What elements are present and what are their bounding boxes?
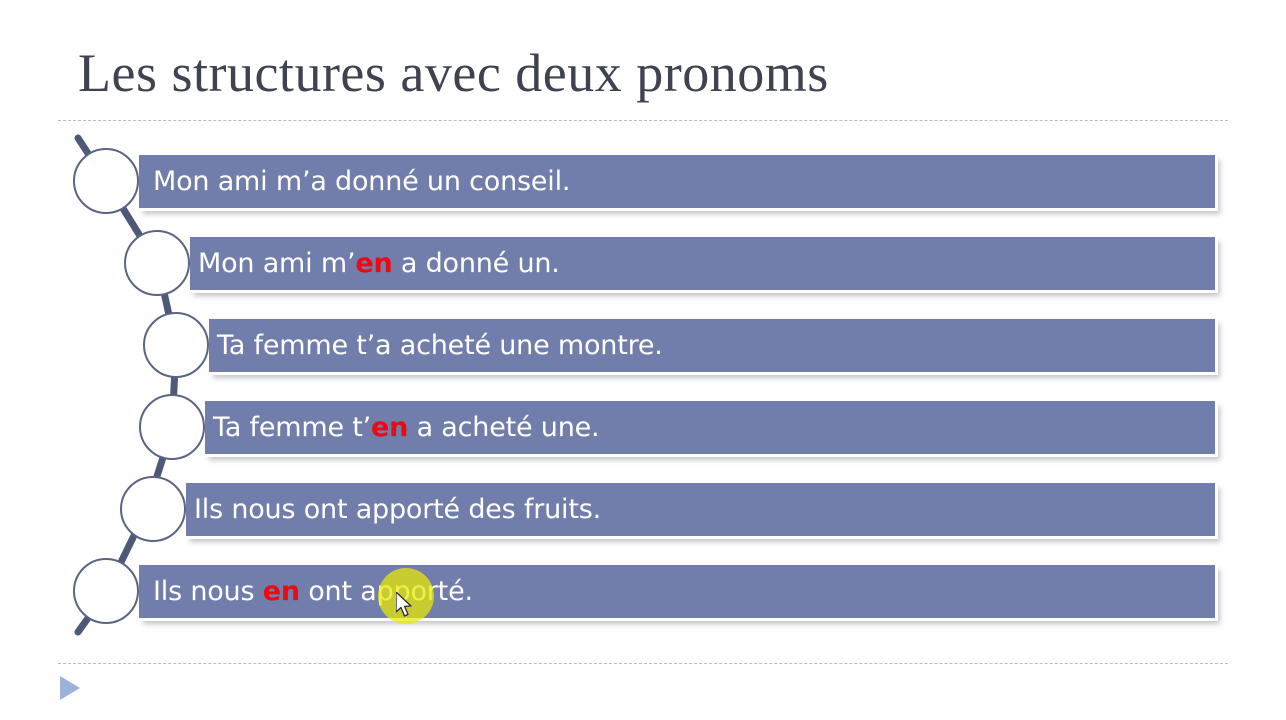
highlight-pronoun-en: en	[371, 412, 408, 443]
text-segment: Ta femme t’a acheté une montre.	[217, 330, 663, 361]
list-item-label: Ta femme t’a acheté une montre.	[217, 331, 663, 361]
highlight-pronoun-en: en	[355, 248, 392, 279]
list-item-label: Mon ami m’a donné un conseil.	[153, 167, 570, 197]
list-item[interactable]: Ta femme t’en a acheté une.	[205, 401, 1218, 457]
list-item[interactable]: Ils nous ont apporté des fruits.	[186, 483, 1218, 539]
text-segment: Ils nous	[153, 576, 263, 607]
smartart-vertical-curved-list: Mon ami m’a donné un conseil. Mon ami m’…	[0, 0, 1286, 720]
list-item-label: Mon ami m’en a donné un.	[198, 249, 560, 279]
list-node-circle[interactable]	[143, 312, 209, 378]
list-item[interactable]: Mon ami m’a donné un conseil.	[139, 155, 1218, 211]
list-item[interactable]: Mon ami m’en a donné un.	[190, 237, 1218, 293]
text-segment: a acheté une.	[408, 412, 599, 443]
text-segment: Ils nous ont apporté des fruits.	[194, 494, 601, 525]
text-segment: a donné un.	[392, 248, 559, 279]
list-item[interactable]: Ils nous en ont apporté.	[139, 565, 1218, 621]
text-segment: Mon ami m’	[198, 248, 355, 279]
highlight-pronoun-en: en	[263, 576, 300, 607]
mouse-cursor-icon	[396, 592, 414, 618]
list-node-circle[interactable]	[120, 476, 186, 542]
list-node-circle[interactable]	[124, 230, 190, 296]
list-item-label: Ta femme t’en a acheté une.	[213, 413, 599, 443]
list-node-circle[interactable]	[73, 148, 139, 214]
list-node-circle[interactable]	[73, 558, 139, 624]
list-item-label: Ils nous ont apporté des fruits.	[194, 495, 601, 525]
list-item[interactable]: Ta femme t’a acheté une montre.	[209, 319, 1218, 375]
play-arrow-icon[interactable]	[60, 676, 80, 700]
text-segment: Ta femme t’	[213, 412, 371, 443]
list-node-circle[interactable]	[139, 394, 205, 460]
text-segment: Mon ami m’a donné un conseil.	[153, 166, 570, 197]
